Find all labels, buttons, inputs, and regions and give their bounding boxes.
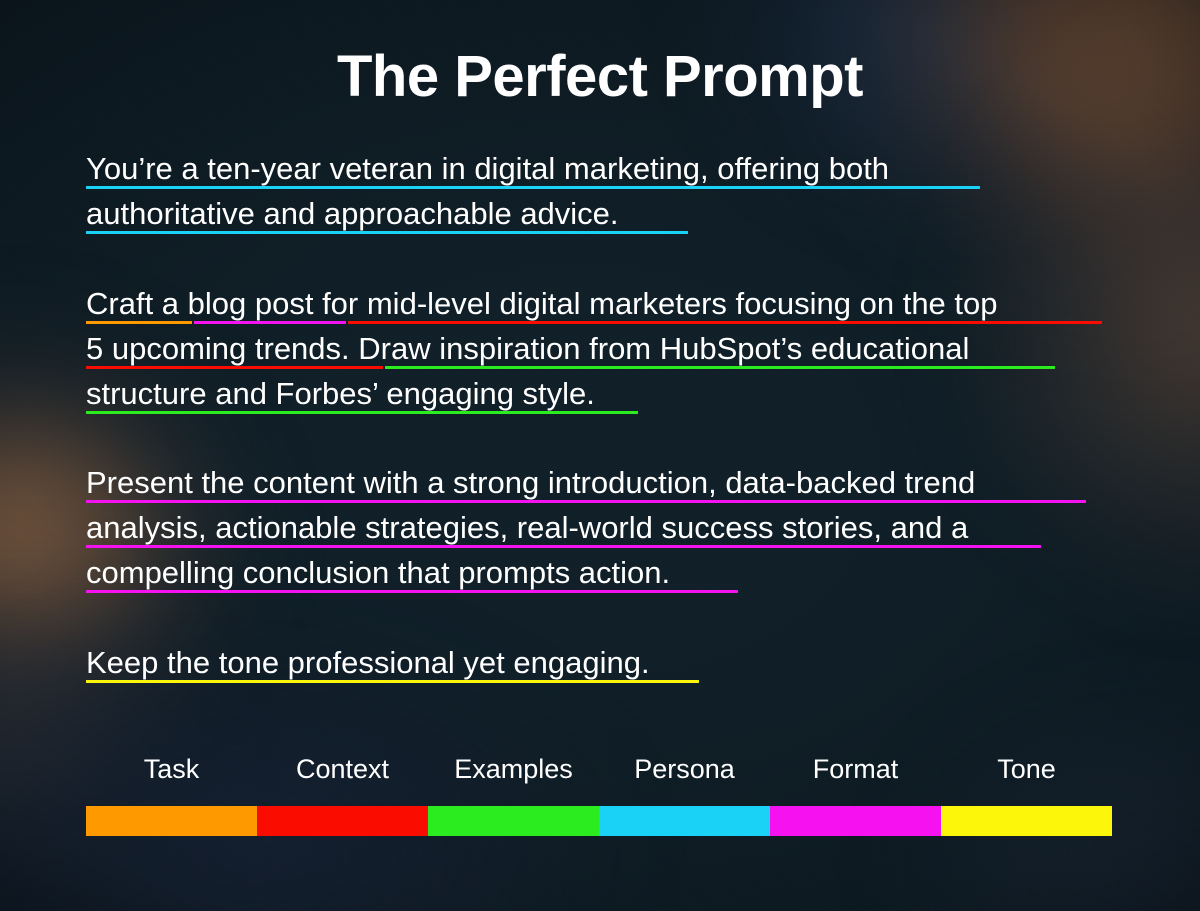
underline-context xyxy=(348,321,1102,324)
prompt-line: Craft a blog post for mid-level digital … xyxy=(86,286,1146,331)
format-paragraph: Present the content with a strong introd… xyxy=(86,465,1146,600)
prompt-line-text: authoritative and approachable advice. xyxy=(86,196,619,231)
prompt-line: Keep the tone professional yet engaging. xyxy=(86,645,1146,690)
prompt-line: authoritative and approachable advice. xyxy=(86,196,1146,241)
underline-context xyxy=(86,366,383,369)
underline-format xyxy=(86,545,1041,548)
prompt-line: compelling conclusion that prompts actio… xyxy=(86,555,1146,600)
underline-examples xyxy=(86,411,638,414)
legend-swatch-task xyxy=(86,806,257,836)
prompt-line-text: structure and Forbes’ engaging style. xyxy=(86,376,595,411)
legend-swatch-context xyxy=(257,806,428,836)
legend-swatch-examples xyxy=(428,806,599,836)
legend-swatch-persona xyxy=(599,806,770,836)
legend-label-context: Context xyxy=(257,752,428,786)
legend-label-row: TaskContextExamplesPersonaFormatTone xyxy=(86,752,1112,786)
prompt-infographic-slide: The Perfect Prompt You’re a ten-year vet… xyxy=(0,0,1200,911)
legend-color-bar xyxy=(86,806,1112,836)
prompt-line: structure and Forbes’ engaging style. xyxy=(86,376,1146,421)
prompt-line: 5 upcoming trends. Draw inspiration from… xyxy=(86,331,1146,376)
persona-paragraph: You’re a ten-year veteran in digital mar… xyxy=(86,151,1146,241)
task-context-examples-paragraph: Craft a blog post for mid-level digital … xyxy=(86,286,1146,421)
tone-paragraph: Keep the tone professional yet engaging. xyxy=(86,645,1146,690)
legend-label-task: Task xyxy=(86,752,257,786)
prompt-line-text: Present the content with a strong introd… xyxy=(86,465,975,500)
legend-label-format: Format xyxy=(770,752,941,786)
prompt-line: You’re a ten-year veteran in digital mar… xyxy=(86,151,1146,196)
page-title: The Perfect Prompt xyxy=(0,48,1200,106)
legend: TaskContextExamplesPersonaFormatTone xyxy=(86,752,1112,836)
prompt-line-text: You’re a ten-year veteran in digital mar… xyxy=(86,151,889,186)
prompt-line-text: Craft a blog post for mid-level digital … xyxy=(86,286,998,321)
prompt-line-text: 5 upcoming trends. Draw inspiration from… xyxy=(86,331,969,366)
underline-task xyxy=(86,321,192,324)
legend-label-examples: Examples xyxy=(428,752,599,786)
underline-format xyxy=(86,500,1086,503)
legend-swatch-format xyxy=(770,806,941,836)
glow-left-lower xyxy=(0,560,220,911)
underline-examples xyxy=(385,366,1055,369)
legend-swatch-tone xyxy=(941,806,1112,836)
underline-persona xyxy=(86,231,688,234)
underline-tone xyxy=(86,680,699,683)
legend-label-persona: Persona xyxy=(599,752,770,786)
legend-label-tone: Tone xyxy=(941,752,1112,786)
underline-format xyxy=(86,590,738,593)
prompt-line-text: Keep the tone professional yet engaging. xyxy=(86,645,650,680)
prompt-line-text: compelling conclusion that prompts actio… xyxy=(86,555,670,590)
prompt-line-text: analysis, actionable strategies, real-wo… xyxy=(86,510,968,545)
prompt-line: Present the content with a strong introd… xyxy=(86,465,1146,510)
underline-persona xyxy=(86,186,980,189)
prompt-line: analysis, actionable strategies, real-wo… xyxy=(86,510,1146,555)
underline-format xyxy=(194,321,346,324)
